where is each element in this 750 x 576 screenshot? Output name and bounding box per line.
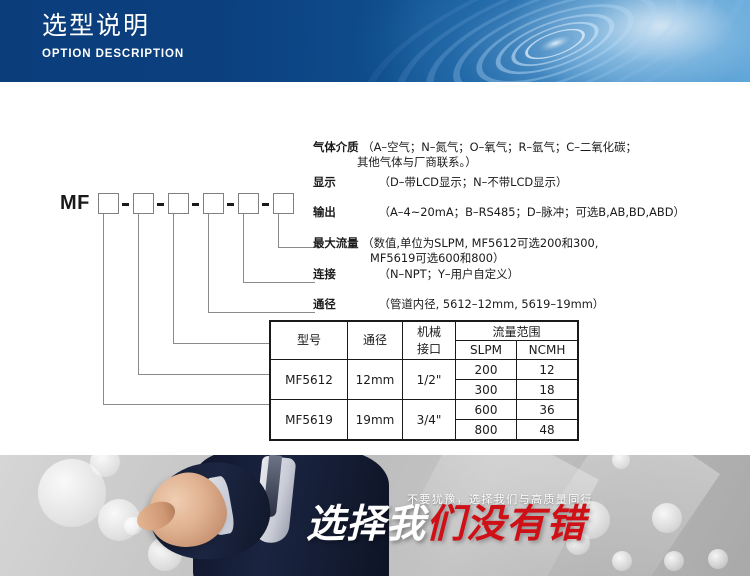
code-box-2[interactable] [133, 193, 154, 214]
annotation-output-desc: （A–4~20mA；B–RS485；D–脉冲；可选B,AB,BD,ABD） [379, 205, 685, 219]
table-cell-ncmh-1b: 18 [517, 380, 579, 400]
table-header-interface-line1: 机械 [417, 325, 441, 339]
leader-line-6-vertical [103, 214, 104, 405]
promo-slogan-red: 们没有错 [426, 502, 586, 547]
annotation-output-label: 输出 [313, 205, 375, 220]
table-row: MF5619 19mm 3/4" 600 36 [270, 400, 578, 420]
leader-line-1-horizontal [278, 247, 315, 248]
annotation-display-label: 显示 [313, 175, 375, 190]
code-separator-5 [262, 203, 269, 206]
table-header-row-1: 型号 通径 机械 接口 流量范围 [270, 321, 578, 341]
table-header-model: 型号 [270, 321, 348, 360]
annotation-gas-medium: 气体介质 （A–空气；N–氮气；O–氧气；R–氩气；C–二氧化碳； 其他气体与厂… [313, 140, 637, 170]
annotation-connection-label: 连接 [313, 267, 375, 282]
annotation-max-flow-desc-line2: MF5619可选600和800） [313, 251, 598, 266]
leader-line-4-vertical [173, 214, 174, 344]
bokeh-circle-10 [652, 503, 682, 533]
annotation-bore-label: 通径 [313, 297, 375, 312]
annotation-bore: 通径 （管道内径, 5612–12mm, 5619–19mm） [313, 297, 604, 312]
annotation-max-flow-label: 最大流量 [313, 236, 359, 251]
header-text-block: 选型说明 OPTION DESCRIPTION [42, 12, 184, 60]
code-separator-2 [157, 203, 164, 206]
bokeh-circle-3 [90, 455, 120, 477]
code-box-6[interactable] [273, 193, 294, 214]
annotation-display-desc: （D–带LCD显示；N–不带LCD显示） [379, 175, 568, 189]
leader-line-5-vertical [138, 214, 139, 375]
table-header-slpm: SLPM [456, 341, 517, 360]
table-cell-slpm-1a: 200 [456, 360, 517, 380]
table-cell-model-2: MF5619 [270, 400, 348, 441]
spec-table-container: 型号 通径 机械 接口 流量范围 SLPM NCMH MF5612 12mm 1… [269, 320, 579, 441]
annotation-gas-medium-desc: （A–空气；N–氮气；O–氧气；R–氩气；C–二氧化碳； [362, 140, 637, 154]
table-cell-ncmh-2b: 48 [517, 420, 579, 441]
table-cell-slpm-2a: 600 [456, 400, 517, 420]
annotation-gas-medium-desc-line2: 其他气体与厂商联系。） [313, 155, 637, 170]
table-cell-slpm-1b: 300 [456, 380, 517, 400]
promo-slogan: 选择我们没有错 [306, 505, 586, 544]
bokeh-circle-11 [612, 551, 632, 571]
spec-table: 型号 通径 机械 接口 流量范围 SLPM NCMH MF5612 12mm 1… [269, 320, 579, 441]
code-separator-4 [227, 203, 234, 206]
bokeh-circle-13 [708, 549, 728, 569]
page-title-cn: 选型说明 [42, 12, 184, 41]
code-separator-1 [122, 203, 129, 206]
table-header-flow-range: 流量范围 [456, 321, 579, 341]
table-header-ncmh: NCMH [517, 341, 579, 360]
table-cell-interface-2: 3/4" [403, 400, 456, 441]
table-cell-interface-1: 1/2" [403, 360, 456, 400]
annotation-bore-desc: （管道内径, 5612–12mm, 5619–19mm） [379, 297, 605, 311]
table-header-interface-line2: 接口 [417, 342, 441, 356]
table-cell-bore-1: 12mm [348, 360, 403, 400]
leader-line-1-vertical [278, 214, 279, 248]
page-title-en: OPTION DESCRIPTION [42, 48, 184, 60]
annotation-max-flow: 最大流量 （数值,单位为SLPM, MF5612可选200和300, MF561… [313, 236, 598, 266]
table-cell-slpm-2b: 800 [456, 420, 517, 441]
leader-line-2-vertical [243, 214, 244, 283]
code-box-4[interactable] [203, 193, 224, 214]
leader-line-2-horizontal [243, 282, 315, 283]
code-box-1[interactable] [98, 193, 119, 214]
annotation-connection: 连接 （N–NPT；Y–用户自定义） [313, 267, 519, 282]
bokeh-circle-9 [612, 455, 630, 469]
code-separator-3 [192, 203, 199, 206]
model-prefix-label: MF [60, 192, 90, 215]
annotation-gas-medium-label: 气体介质 [313, 140, 359, 155]
annotation-display: 显示 （D–带LCD显示；N–不带LCD显示） [313, 175, 567, 190]
leader-line-3-vertical [208, 214, 209, 313]
table-cell-model-1: MF5612 [270, 360, 348, 400]
model-code-diagram: MF 气体介质 （A–空气；N–氮气；O–氧气；R–氩气；C–二氧化碳； 其他气… [0, 82, 750, 312]
table-row: MF5612 12mm 1/2" 200 12 [270, 360, 578, 380]
bokeh-circle-12 [664, 551, 684, 571]
annotation-connection-desc: （N–NPT；Y–用户自定义） [379, 267, 519, 281]
bokeh-circle-2 [98, 499, 140, 541]
table-header-bore: 通径 [348, 321, 403, 360]
promo-slogan-white: 选择我 [306, 502, 426, 547]
table-cell-bore-2: 19mm [348, 400, 403, 441]
bokeh-circle-1 [38, 459, 106, 527]
table-header-interface: 机械 接口 [403, 321, 456, 360]
annotation-max-flow-desc: （数值,单位为SLPM, MF5612可选200和300, [362, 236, 598, 250]
code-box-3[interactable] [168, 193, 189, 214]
annotation-output: 输出 （A–4~20mA；B–RS485；D–脉冲；可选B,AB,BD,ABD） [313, 205, 685, 220]
leader-line-3-horizontal [208, 312, 315, 313]
header-banner: 选型说明 OPTION DESCRIPTION [0, 0, 750, 82]
code-box-5[interactable] [238, 193, 259, 214]
table-cell-ncmh-2a: 36 [517, 400, 579, 420]
table-cell-ncmh-1a: 12 [517, 360, 579, 380]
